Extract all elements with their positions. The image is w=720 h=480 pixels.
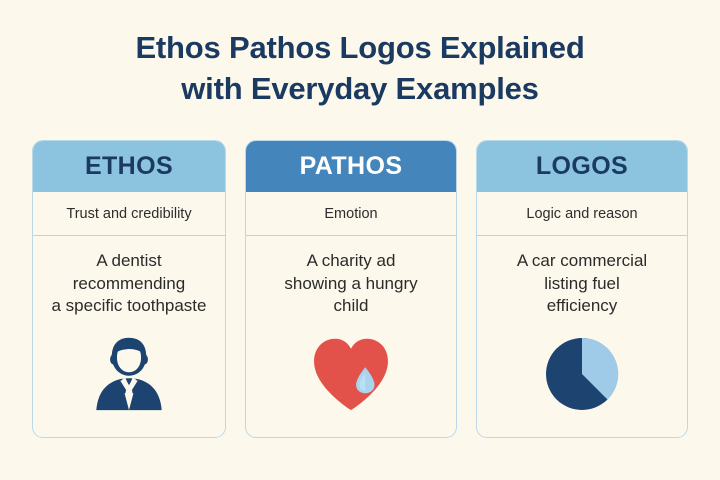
card-example-line: listing fuel [517, 273, 647, 296]
card-body-pathos: A charity ad showing a hungry child [246, 236, 456, 437]
card-example-line: showing a hungry [284, 273, 417, 296]
page-title-line-1: Ethos Pathos Logos Explained [0, 28, 720, 69]
card-example-ethos: A dentist recommending a specific toothp… [46, 250, 213, 318]
card-example-line: A car commercial [517, 250, 647, 273]
concept-card-logos: LOGOS Logic and reason A car commercial … [476, 140, 688, 438]
heart-with-teardrop-icon [246, 318, 456, 437]
card-header-ethos: ETHOS [33, 141, 225, 192]
card-subtitle-pathos: Emotion [246, 192, 456, 236]
pie-chart-icon [477, 318, 687, 437]
card-body-logos: A car commercial listing fuel efficiency [477, 236, 687, 437]
concept-card-ethos: ETHOS Trust and credibility A dentist re… [32, 140, 226, 438]
card-header-label-logos: LOGOS [536, 152, 628, 181]
card-body-ethos: A dentist recommending a specific toothp… [33, 236, 225, 437]
card-subtitle-ethos: Trust and credibility [33, 192, 225, 236]
card-header-logos: LOGOS [477, 141, 687, 192]
card-example-logos: A car commercial listing fuel efficiency [511, 250, 653, 318]
card-header-label-pathos: PATHOS [300, 152, 403, 181]
card-header-pathos: PATHOS [246, 141, 456, 192]
concept-card-pathos: PATHOS Emotion A charity ad showing a hu… [245, 140, 457, 438]
card-example-line: recommending [52, 273, 207, 296]
card-subtitle-logos: Logic and reason [477, 192, 687, 236]
businessman-avatar-icon [33, 318, 225, 437]
card-example-line: A charity ad [284, 250, 417, 273]
card-example-line: efficiency [517, 295, 647, 318]
card-example-line: a specific toothpaste [52, 295, 207, 318]
card-example-pathos: A charity ad showing a hungry child [278, 250, 423, 318]
infographic-root: Ethos Pathos Logos Explained with Everyd… [0, 0, 720, 480]
card-example-line: A dentist [52, 250, 207, 273]
page-title: Ethos Pathos Logos Explained with Everyd… [0, 28, 720, 110]
concept-card-row: ETHOS Trust and credibility A dentist re… [32, 140, 688, 440]
card-example-line: child [284, 295, 417, 318]
card-header-label-ethos: ETHOS [85, 152, 173, 181]
page-title-line-2: with Everyday Examples [0, 69, 720, 110]
